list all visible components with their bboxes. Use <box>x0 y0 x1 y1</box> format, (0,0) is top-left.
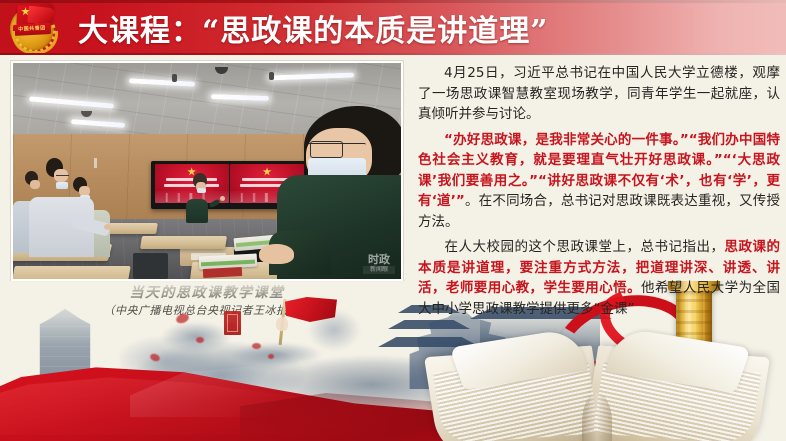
teacher-face-mask <box>197 188 206 193</box>
student-face-mask <box>56 182 68 189</box>
student-face <box>30 180 40 189</box>
ceiling-sensor <box>172 74 177 82</box>
slide-root: 中国共青团 大课程：“思政课的本质是讲道理” <box>0 0 786 441</box>
photo-caption: 当天的思政课教学课堂 （中央广播电视总台央视记者王冰拍摄） <box>11 283 403 319</box>
student-glasses <box>56 175 69 179</box>
caption-title: 当天的思政课教学课堂 <box>11 283 403 303</box>
teacher-body <box>186 199 208 223</box>
paragraph-3-lead: 在人大校园的这个思政课堂上，总书记指出， <box>444 239 725 255</box>
watermark-primary-text: 时政 <box>363 254 395 266</box>
classroom-photo-frame: 时政 新闻眼 <box>11 61 403 281</box>
foreground-student-hand <box>259 244 294 263</box>
paragraph-2-tail: 。在不同场合，总书记对思政课既表达重视，又传授方法。 <box>418 193 780 230</box>
foreground-student-glasses-bridge <box>308 143 366 153</box>
article-text-column: 4月25日，习近平总书记在中国人民大学立德楼，观摩了一场思政课智慧教室现场教学，… <box>418 63 780 324</box>
watermark-secondary-text: 新闻眼 <box>363 266 395 274</box>
party-emblem-icon <box>263 167 272 176</box>
communist-youth-league-emblem-icon: 中国共青团 <box>3 1 65 54</box>
paragraph-2: “办好思政课，是我非常关心的一件事。”“我们办中国特色社会主义教育，就是要理直气… <box>418 130 780 233</box>
ceiling-sensor <box>269 72 274 80</box>
title-banner: 中国共青团 大课程：“思政课的本质是讲道理” <box>0 0 786 55</box>
wall-switch-panel <box>94 158 97 168</box>
paragraph-1: 4月25日，习近平总书记在中国人民大学立德楼，观摩了一场思政课智慧教室现场教学，… <box>418 63 780 125</box>
page-title: 大课程：“思政课的本质是讲道理” <box>78 4 549 52</box>
screen-text-line-2 <box>164 184 219 187</box>
paragraph-3: 在人大校园的这个思政课堂上，总书记指出，思政课的本质是讲道理，要注重方式方法，把… <box>418 237 780 319</box>
caption-credit: （中央广播电视总台央视记者王冰拍摄） <box>11 303 403 319</box>
classroom-chair <box>133 253 168 279</box>
quote-segment-1: “办好思政课，是我非常关心的一件事。” <box>444 132 689 148</box>
presentation-screen-left <box>155 164 229 203</box>
classroom-desk <box>13 266 131 279</box>
paragraph-1-text: 4月25日，习近平总书记在中国人民大学立德楼，观摩了一场思政课智慧教室现场教学，… <box>418 65 780 122</box>
teacher-hand <box>220 196 225 201</box>
classroom-desk <box>140 236 227 249</box>
classroom-photo: 时政 新闻眼 <box>13 63 401 279</box>
emblem-wreath-icon <box>12 31 58 54</box>
broadcast-watermark: 时政 新闻眼 <box>363 254 395 274</box>
banner-top-strip <box>0 0 786 3</box>
content-area: 时政 新闻眼 当天的思政课教学课堂 （中央广播电视总台央视记者王冰拍摄） 4月2… <box>0 55 786 441</box>
screen-text-line-1 <box>166 178 216 181</box>
